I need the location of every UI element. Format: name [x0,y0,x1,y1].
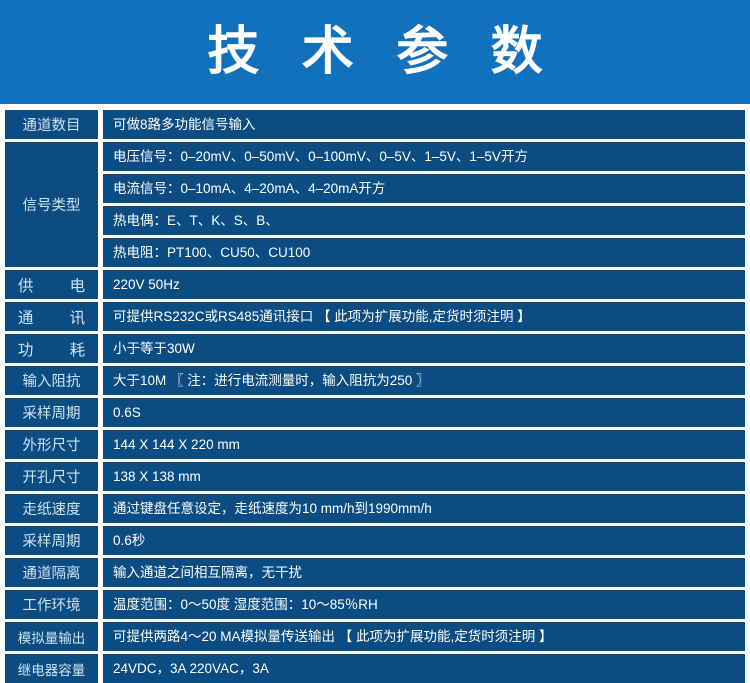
row-values: 可做8路多功能信号输入 [103,110,745,139]
row-values: 可提供RS232C或RS485通讯接口 【 此项为扩展功能,定货时须注明 】 [103,302,745,331]
row-value: 24VDC，3A 220VAC，3A [103,654,745,683]
table-row: 输入阻抗大于10M 〖 注：进行电流测量时，输入阻抗为250 〗 [5,366,745,395]
row-values: 小于等于30W [103,334,745,363]
row-values: 可提供两路4～20 MA模拟量传送输出 【 此项为扩展功能,定货时须注明 】 [103,622,745,651]
table-row: 信号类型电压信号：0–20mV、0–50mV、0–100mV、0–5V、1–5V… [5,142,745,267]
table-row: 外形尺寸144 X 144 X 220 mm [5,430,745,459]
row-label: 功 耗 [5,334,98,363]
row-value: 144 X 144 X 220 mm [103,430,745,459]
row-value: 220V 50Hz [103,270,745,299]
row-value: 大于10M 〖 注：进行电流测量时，输入阻抗为250 〗 [103,366,745,395]
table-row: 通 讯可提供RS232C或RS485通讯接口 【 此项为扩展功能,定货时须注明 … [5,302,745,331]
row-value: 可提供RS232C或RS485通讯接口 【 此项为扩展功能,定货时须注明 】 [103,302,745,331]
row-label: 走纸速度 [5,494,98,523]
row-value: 通过键盘任意设定，走纸速度为10 mm/h到1990mm/h [103,494,745,523]
row-value: 温度范围：0～50度 湿度范围：10～85％RH [103,590,745,619]
row-label: 开孔尺寸 [5,462,98,491]
row-values: 138 X 138 mm [103,462,745,491]
table-row: 采样周期0.6秒 [5,526,745,555]
page-banner: 技 术 参 数 [0,0,750,104]
row-values: 220V 50Hz [103,270,745,299]
table-row: 采样周期0.6S [5,398,745,427]
row-label: 继电器容量 [5,654,98,683]
table-row: 供 电220V 50Hz [5,270,745,299]
row-label: 输入阻抗 [5,366,98,395]
row-value: 0.6秒 [103,526,745,555]
row-values: 温度范围：0～50度 湿度范围：10～85％RH [103,590,745,619]
row-value: 可做8路多功能信号输入 [103,110,745,139]
row-label: 模拟量输出 [5,622,98,651]
row-values: 输入通道之间相互隔离，无干扰 [103,558,745,587]
row-label: 通 讯 [5,302,98,331]
table-row: 开孔尺寸138 X 138 mm [5,462,745,491]
table-row: 走纸速度通过键盘任意设定，走纸速度为10 mm/h到1990mm/h [5,494,745,523]
row-value: 电压信号：0–20mV、0–50mV、0–100mV、0–5V、1–5V、1–5… [103,142,745,171]
spec-table: 通道数目可做8路多功能信号输入信号类型电压信号：0–20mV、0–50mV、0–… [0,104,750,683]
row-values: 144 X 144 X 220 mm [103,430,745,459]
row-label: 外形尺寸 [5,430,98,459]
row-value: 138 X 138 mm [103,462,745,491]
row-label: 信号类型 [5,142,98,267]
row-values: 0.6秒 [103,526,745,555]
row-value: 热电阻：PT100、CU50、CU100 [103,238,745,267]
row-label: 通道隔离 [5,558,98,587]
row-label: 供 电 [5,270,98,299]
row-value: 可提供两路4～20 MA模拟量传送输出 【 此项为扩展功能,定货时须注明 】 [103,622,745,651]
row-values: 通过键盘任意设定，走纸速度为10 mm/h到1990mm/h [103,494,745,523]
table-row: 模拟量输出可提供两路4～20 MA模拟量传送输出 【 此项为扩展功能,定货时须注… [5,622,745,651]
row-value: 电流信号：0–10mA、4–20mA、4–20mA开方 [103,174,745,203]
row-values: 24VDC，3A 220VAC，3A [103,654,745,683]
table-row: 工作环境温度范围：0～50度 湿度范围：10～85％RH [5,590,745,619]
row-values: 0.6S [103,398,745,427]
table-row: 通道隔离输入通道之间相互隔离，无干扰 [5,558,745,587]
table-row: 通道数目可做8路多功能信号输入 [5,110,745,139]
row-values: 大于10M 〖 注：进行电流测量时，输入阻抗为250 〗 [103,366,745,395]
row-value: 输入通道之间相互隔离，无干扰 [103,558,745,587]
row-values: 电压信号：0–20mV、0–50mV、0–100mV、0–5V、1–5V、1–5… [103,142,745,267]
table-row: 功 耗小于等于30W [5,334,745,363]
row-value: 小于等于30W [103,334,745,363]
page-title: 技 术 参 数 [193,26,556,78]
row-label: 通道数目 [5,110,98,139]
row-label: 采样周期 [5,526,98,555]
row-label: 采样周期 [5,398,98,427]
table-row: 继电器容量24VDC，3A 220VAC，3A [5,654,745,683]
row-value: 0.6S [103,398,745,427]
row-value: 热电偶：E、T、K、S、B、 [103,206,745,235]
row-label: 工作环境 [5,590,98,619]
